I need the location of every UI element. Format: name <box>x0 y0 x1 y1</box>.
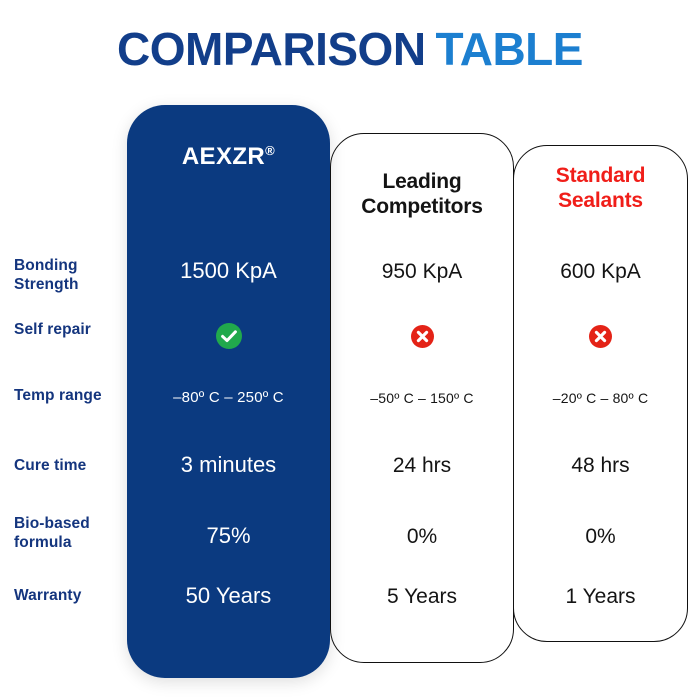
column-leading-competitors: Leading Competitors 950 KpA –50º C – 150… <box>330 105 514 678</box>
cell-competitors-warranty: 5 Years <box>330 584 514 609</box>
cell-standard-temp-range: –20º C – 80º C <box>513 390 688 407</box>
page-title-secondary: TABLE <box>436 23 583 75</box>
column-aexzr: AEXZR® 1500 KpA –80º C – 250º C 3 minute… <box>127 105 330 678</box>
registered-trademark-icon: ® <box>265 143 275 158</box>
row-label-bonding-strength: Bonding Strength <box>14 256 126 294</box>
page-title-primary: COMPARISON <box>117 23 426 75</box>
row-label-warranty: Warranty <box>14 586 126 605</box>
cross-circle-icon <box>589 325 612 348</box>
check-circle-icon <box>216 323 242 349</box>
comparison-table-page: COMPARISONTABLE Bonding Strength Self re… <box>0 0 700 700</box>
cell-competitors-bonding-strength: 950 KpA <box>330 259 514 284</box>
row-label-temp-range: Temp range <box>14 386 126 405</box>
cell-competitors-self-repair <box>330 325 514 348</box>
row-label-self-repair: Self repair <box>14 320 126 339</box>
column-header-aexzr-text: AEXZR <box>182 143 265 170</box>
cell-aexzr-self-repair <box>127 323 330 349</box>
row-label-column: Bonding Strength Self repair Temp range … <box>14 105 124 678</box>
cell-aexzr-cure-time: 3 minutes <box>127 452 330 478</box>
row-label-bio-based-formula: Bio-based formula <box>14 514 126 552</box>
row-label-cure-time: Cure time <box>14 456 126 475</box>
cell-competitors-cure-time: 24 hrs <box>330 453 514 478</box>
cell-aexzr-bonding-strength: 1500 KpA <box>127 258 330 284</box>
cross-circle-icon <box>411 325 434 348</box>
cell-standard-self-repair <box>513 325 688 348</box>
column-standard-sealants: Standard Sealants 600 KpA –20º C – 80º C… <box>513 105 688 678</box>
cell-aexzr-bio-based-formula: 75% <box>127 523 330 549</box>
page-title: COMPARISONTABLE <box>0 26 700 72</box>
cell-aexzr-warranty: 50 Years <box>127 583 330 609</box>
cell-competitors-bio-based-formula: 0% <box>330 524 514 549</box>
cell-standard-bio-based-formula: 0% <box>513 524 688 549</box>
cell-competitors-temp-range: –50º C – 150º C <box>330 390 514 407</box>
column-header-standard-sealants: Standard Sealants <box>513 163 688 213</box>
column-header-leading-competitors: Leading Competitors <box>330 169 514 219</box>
cell-standard-bonding-strength: 600 KpA <box>513 259 688 284</box>
column-header-aexzr: AEXZR® <box>127 143 330 172</box>
cell-standard-warranty: 1 Years <box>513 584 688 609</box>
cell-aexzr-temp-range: –80º C – 250º C <box>127 389 330 407</box>
cell-standard-cure-time: 48 hrs <box>513 453 688 478</box>
